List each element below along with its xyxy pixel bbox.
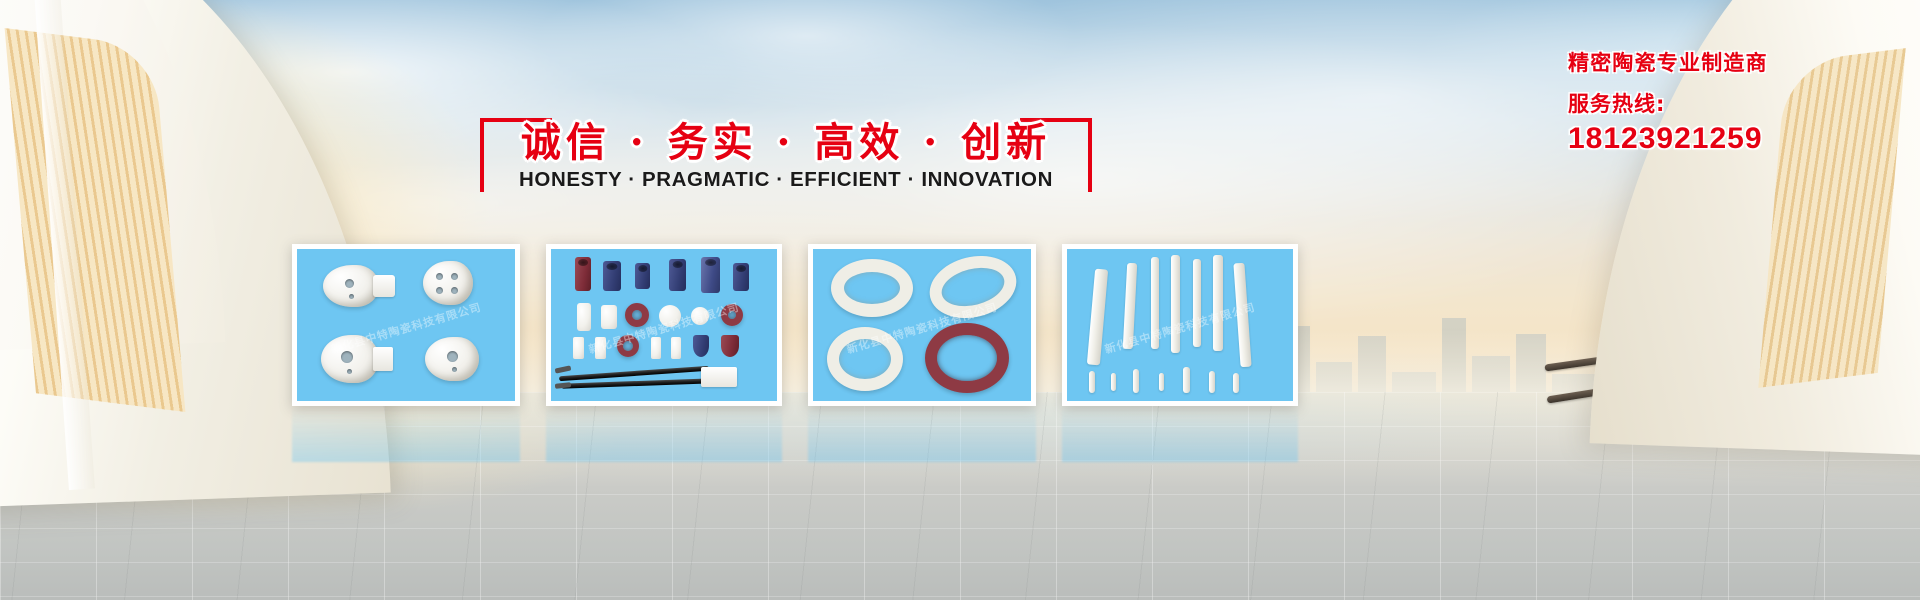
ceramic-rod: [1233, 263, 1251, 368]
nozzle-part-stem: [373, 275, 395, 297]
ceramic-rod-small: [1089, 371, 1095, 393]
product-panel-tubes-wires-inner: 新化县中特陶瓷科技有限公司: [551, 249, 777, 401]
ceramic-rod: [1213, 255, 1223, 351]
ceramic-rod-small: [1159, 373, 1164, 391]
hotline-label: 服务热线:: [1568, 93, 1888, 116]
wire-terminal: [555, 365, 572, 373]
ceramic-rod: [1151, 257, 1159, 349]
ceramic-bar: [595, 337, 606, 359]
product-panel-rings-inner: 新化县中特陶瓷科技有限公司: [813, 249, 1031, 401]
contact-block: 精密陶瓷专业制造商 服务热线: 18123921259: [1568, 52, 1888, 155]
slogan-english: HONESTY · PRAGMATIC · EFFICIENT · INNOVA…: [480, 168, 1092, 192]
ceramic-rod: [1193, 259, 1201, 347]
ceramic-cone-navy: [693, 335, 709, 357]
ceramic-plate: [577, 303, 591, 331]
hotline-phone[interactable]: 18123921259: [1568, 122, 1888, 155]
ceramic-rod: [1123, 263, 1137, 349]
ceramic-tube-navy: [669, 259, 686, 291]
ceramic-tube-blue: [701, 257, 720, 293]
ceramic-rod-small: [1111, 373, 1116, 391]
product-panel-rods[interactable]: 新化县中特陶瓷科技有限公司: [1062, 244, 1298, 406]
ceramic-rod-small: [1183, 367, 1190, 393]
wire-connector: [701, 367, 737, 387]
nozzle-part: [425, 337, 479, 381]
ceramic-cone-red: [721, 335, 739, 357]
ceramic-bar: [651, 337, 661, 359]
ceramic-ring-red-large: [925, 323, 1009, 393]
ceramic-washer: [659, 305, 681, 327]
ceramic-rod-small: [1233, 373, 1239, 393]
company-tagline: 精密陶瓷专业制造商: [1568, 52, 1888, 75]
ceramic-ring-red: [617, 335, 639, 357]
ceramic-rod-small: [1133, 369, 1139, 393]
ceramic-ring-large: [827, 327, 903, 391]
ceramic-washer: [691, 307, 709, 325]
ceramic-ring-red: [625, 303, 649, 327]
ceramic-bar: [671, 337, 681, 359]
ceramic-rod-small: [1209, 371, 1215, 393]
ceramic-rod: [1171, 255, 1180, 353]
ceramic-tube-red: [575, 257, 591, 291]
slogan-chinese: 诚信 · 务实 · 高效 · 创新: [480, 110, 1092, 168]
ceramic-plate: [601, 305, 617, 329]
slogan-block: 诚信 · 务实 · 高效 · 创新 HONESTY · PRAGMATIC · …: [480, 110, 1092, 192]
ceramic-ring-red: [721, 304, 743, 326]
ceramic-tube-navy: [603, 261, 621, 291]
product-panel-tubes-wires[interactable]: 新化县中特陶瓷科技有限公司: [546, 244, 782, 406]
ceramic-tube-navy: [635, 263, 650, 289]
ceramic-ring-large: [923, 249, 1023, 327]
ceramic-bar: [573, 337, 584, 359]
nozzle-part-stem: [373, 347, 393, 371]
ceramic-ring-large: [831, 259, 913, 317]
nozzle-part: [323, 265, 379, 307]
product-panel-nozzles[interactable]: 新化县中特陶瓷科技有限公司: [292, 244, 520, 406]
product-panels: 新化县中特陶瓷科技有限公司: [292, 244, 1482, 406]
wire-harness: [561, 378, 713, 388]
hero-banner: 诚信 · 务实 · 高效 · 创新 HONESTY · PRAGMATIC · …: [0, 0, 1920, 600]
nozzle-part: [423, 261, 473, 305]
product-panel-rings[interactable]: 新化县中特陶瓷科技有限公司: [808, 244, 1036, 406]
ceramic-tube-navy: [733, 263, 749, 291]
product-panel-nozzles-inner: 新化县中特陶瓷科技有限公司: [297, 249, 515, 401]
product-panel-rods-inner: 新化县中特陶瓷科技有限公司: [1067, 249, 1293, 401]
nozzle-part: [321, 335, 379, 383]
ceramic-rod: [1087, 269, 1108, 366]
